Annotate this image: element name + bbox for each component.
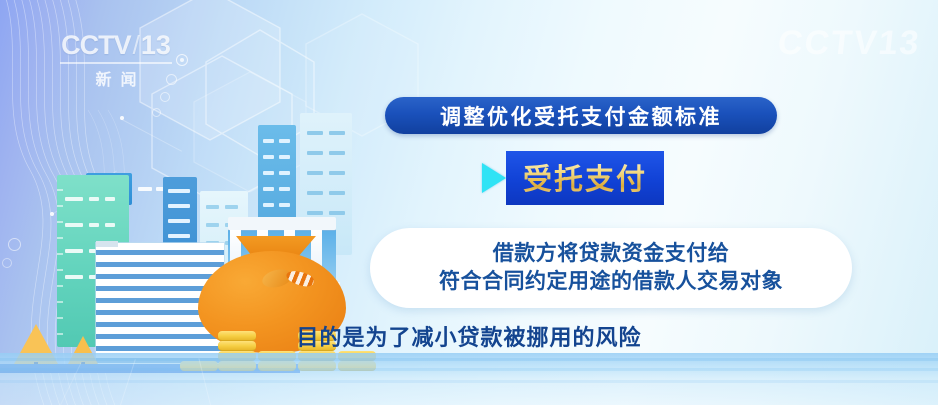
floor-band-3	[0, 380, 938, 383]
window	[263, 171, 274, 175]
window	[206, 205, 219, 209]
news-graphic-frame: CCTV13 CCTV / 13 新闻	[0, 0, 938, 405]
window-float	[138, 187, 152, 191]
footer-note: 目的是为了减小贷款被挪用的风险	[0, 320, 938, 352]
window	[263, 203, 274, 207]
window	[65, 249, 83, 253]
window	[168, 234, 190, 238]
cctv-logo: CCTV / 13 新闻	[52, 30, 180, 90]
keyword-label: 受托支付	[523, 156, 647, 198]
ring-decor-3	[160, 92, 170, 102]
floor-band-2	[0, 368, 938, 371]
keyword-box: 受托支付	[506, 151, 664, 205]
cctv-logo-main: CCTV / 13	[52, 30, 180, 61]
window	[89, 223, 99, 227]
window	[225, 205, 238, 209]
window	[279, 187, 290, 191]
window	[89, 197, 99, 201]
window	[307, 191, 323, 195]
cctv-logo-subtitle: 新闻	[52, 66, 180, 90]
channel-watermark: CCTV13	[776, 24, 922, 63]
cctv-logo-divider	[60, 62, 172, 64]
cctv-logo-slash: /	[132, 30, 140, 61]
window	[279, 203, 290, 207]
window	[329, 151, 345, 155]
window	[65, 197, 83, 201]
window	[329, 131, 345, 135]
window	[65, 223, 83, 227]
headline-pill-label: 调整优化受托支付金额标准	[440, 101, 722, 131]
window	[263, 187, 274, 191]
window	[263, 155, 274, 159]
window	[329, 211, 345, 215]
cctv-logo-text: CCTV	[61, 30, 131, 61]
window	[307, 151, 323, 155]
play-triangle-icon	[482, 163, 506, 193]
window	[168, 204, 190, 208]
bank-roof	[228, 217, 336, 230]
window	[105, 197, 115, 201]
window	[279, 139, 290, 143]
window	[65, 275, 83, 279]
window	[279, 155, 290, 159]
window	[206, 223, 219, 227]
headline-pill: 调整优化受托支付金额标准	[385, 97, 777, 134]
window	[329, 191, 345, 195]
window	[279, 171, 290, 175]
definition-card: 借款方将贷款资金支付给 符合合同约定用途的借款人交易对象	[370, 228, 852, 308]
window	[105, 223, 115, 227]
window	[168, 189, 190, 193]
keyword-row: 受托支付	[482, 151, 664, 205]
window	[168, 219, 190, 223]
window	[307, 131, 323, 135]
footer-note-text: 目的是为了减小贷款被挪用的风险	[296, 325, 641, 350]
building-roof-cap	[96, 241, 118, 247]
definition-line-1: 借款方将贷款资金支付给	[493, 241, 730, 267]
window	[263, 139, 274, 143]
window	[307, 171, 323, 175]
window	[307, 211, 323, 215]
definition-line-2: 符合合同约定用途的借款人交易对象	[439, 269, 783, 295]
floor-band-1	[0, 358, 938, 361]
window	[329, 171, 345, 175]
cctv-logo-number: 13	[141, 30, 171, 61]
